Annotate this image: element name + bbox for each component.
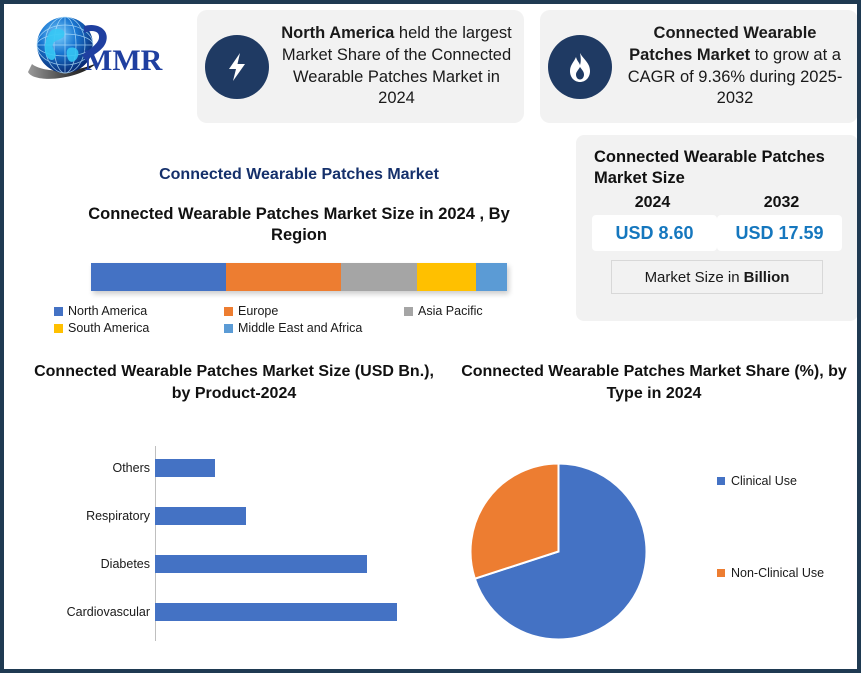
- info-card-cagr: Connected Wearable Patches Market to gro…: [540, 10, 858, 123]
- info-card-north-america: North America held the largest Market Sh…: [197, 10, 524, 123]
- mmr-logo: MMR: [22, 14, 192, 86]
- market-size-year-row: 2024 2032: [588, 194, 846, 212]
- info-card-cagr-text: Connected Wearable Patches Market to gro…: [622, 23, 848, 111]
- product-bar-others: [155, 459, 215, 477]
- logo-wordmark: MMR: [84, 44, 163, 77]
- type-legend-label-non-clinical-use: Non-Clinical Use: [731, 566, 824, 580]
- region-legend-item-south-america: South America: [54, 321, 224, 335]
- type-chart-title: Connected Wearable Patches Market Share …: [454, 361, 854, 404]
- region-chart-title: Connected Wearable Patches Market Size i…: [64, 204, 534, 247]
- product-bar-row: Diabetes: [32, 542, 432, 586]
- region-legend-row-2: South America Middle East and Africa: [54, 321, 524, 335]
- market-size-year-2024: 2024: [593, 194, 713, 212]
- product-bar-chart: OthersRespiratoryDiabetesCardiovascular: [32, 446, 432, 651]
- infographic-page: MMR North America held the largest Marke…: [0, 0, 861, 673]
- region-legend-swatch-south-america: [54, 324, 63, 333]
- product-bar-cardiovascular: [155, 603, 397, 621]
- region-legend-label-middle-east-and-africa: Middle East and Africa: [238, 321, 362, 335]
- region-legend-label-south-america: South America: [68, 321, 149, 335]
- type-pie-chart: [466, 459, 651, 644]
- market-size-unit-prefix: Market Size in: [645, 269, 740, 286]
- region-legend-item-north-america: North America: [54, 304, 224, 318]
- region-segment-south-america: [417, 263, 476, 291]
- market-size-value-2024: USD 8.60: [592, 215, 717, 251]
- lightning-bolt-icon: [205, 35, 269, 99]
- region-legend-label-north-america: North America: [68, 304, 147, 318]
- region-stacked-bar: [91, 263, 507, 291]
- type-legend-swatch-non-clinical-use: [717, 569, 725, 577]
- product-bar-row: Cardiovascular: [32, 590, 432, 634]
- info-card-north-america-bold: North America: [281, 24, 394, 42]
- type-legend-item-non-clinical-use: Non-Clinical Use: [717, 566, 857, 580]
- type-legend-gap: [717, 488, 857, 566]
- market-size-value-2032: USD 17.59: [717, 215, 842, 251]
- globe-logo-icon: MMR: [22, 14, 192, 86]
- market-size-unit-bold: Billion: [744, 269, 790, 286]
- region-legend-label-asia-pacific: Asia Pacific: [418, 304, 483, 318]
- region-segment-middle-east-and-africa: [476, 263, 507, 291]
- region-legend-label-europe: Europe: [238, 304, 278, 318]
- type-legend-item-clinical-use: Clinical Use: [717, 474, 857, 488]
- market-size-unit: Market Size inBillion: [611, 260, 823, 294]
- product-chart-title: Connected Wearable Patches Market Size (…: [34, 361, 434, 404]
- region-segment-asia-pacific: [341, 263, 417, 291]
- product-bar-label-diabetes: Diabetes: [32, 557, 155, 571]
- region-legend-item-europe: Europe: [224, 304, 404, 318]
- brand-chart-title: Connected Wearable Patches Market: [64, 166, 534, 184]
- market-size-panel: Connected Wearable Patches Market Size 2…: [576, 135, 858, 321]
- region-legend-swatch-middle-east-and-africa: [224, 324, 233, 333]
- market-size-panel-title: Connected Wearable Patches Market Size: [594, 147, 846, 188]
- type-legend: Clinical Use Non-Clinical Use: [717, 474, 857, 580]
- region-legend: North America Europe Asia Pacific South …: [54, 304, 524, 338]
- region-legend-swatch-asia-pacific: [404, 307, 413, 316]
- product-bar-respiratory: [155, 507, 246, 525]
- product-bar-label-respiratory: Respiratory: [32, 509, 155, 523]
- market-size-value-row: USD 8.60 USD 17.59: [588, 215, 846, 251]
- market-size-year-2032: 2032: [722, 194, 842, 212]
- flame-icon: [548, 35, 612, 99]
- region-segment-north-america: [91, 263, 226, 291]
- type-pie-svg: [466, 459, 651, 644]
- product-bar-row: Others: [32, 446, 432, 490]
- product-bar-label-cardiovascular: Cardiovascular: [32, 605, 155, 619]
- region-segment-europe: [226, 263, 341, 291]
- product-bar-row: Respiratory: [32, 494, 432, 538]
- region-legend-row-1: North America Europe Asia Pacific: [54, 304, 524, 318]
- type-legend-swatch-clinical-use: [717, 477, 725, 485]
- region-legend-item-middle-east-and-africa: Middle East and Africa: [224, 321, 404, 335]
- region-legend-swatch-europe: [224, 307, 233, 316]
- info-card-north-america-text: North America held the largest Market Sh…: [279, 23, 514, 111]
- region-legend-item-asia-pacific: Asia Pacific: [404, 304, 483, 318]
- region-legend-swatch-north-america: [54, 307, 63, 316]
- product-bar-label-others: Others: [32, 461, 155, 475]
- type-legend-label-clinical-use: Clinical Use: [731, 474, 797, 488]
- product-bar-diabetes: [155, 555, 367, 573]
